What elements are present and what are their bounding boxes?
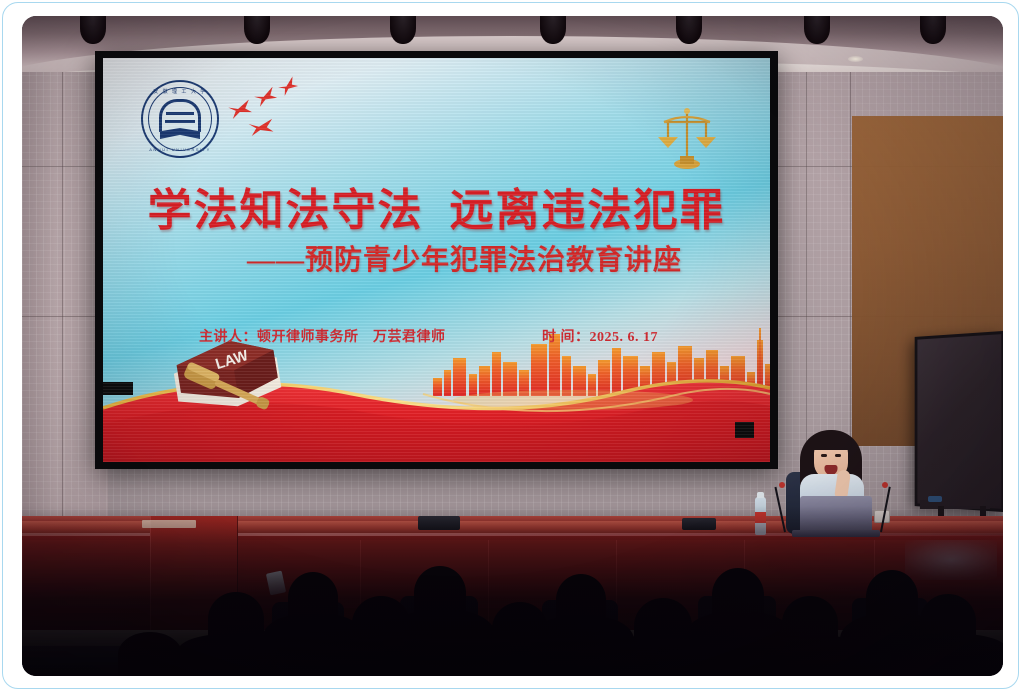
dove-icon <box>253 87 278 108</box>
emblem-arch-shape <box>159 99 201 132</box>
microphone-head-icon <box>779 482 785 488</box>
stage-spotlight-icon <box>80 16 106 44</box>
dove-icon <box>248 119 273 136</box>
led-corner-marker <box>735 422 754 438</box>
stage-spotlight-icon <box>920 16 946 44</box>
stage-spotlight-icon <box>244 16 270 44</box>
law-book-gavel-icon: LAW <box>161 336 287 418</box>
presenter-eye <box>835 454 841 457</box>
stage-spotlight-icon <box>390 16 416 44</box>
slide-time-line: 时 间：2025. 6. 17 <box>542 326 658 346</box>
emblem-top-text: 安 徽 理 工 大 学 <box>143 88 217 95</box>
school-emblem-icon: 安 徽 理 工 大 学 ANHUI UNIVERSITY <box>141 80 219 158</box>
stage-spotlight-icon <box>804 16 830 44</box>
slide-main-title: 学法知法守法 远离违法犯罪 <box>103 174 770 238</box>
slide-sub-title: ——预防青少年犯罪法治教育讲座 <box>103 238 770 278</box>
wall-seam <box>62 72 63 524</box>
emblem-bottom-text: ANHUI UNIVERSITY <box>143 147 217 152</box>
presenter-fringe <box>810 432 852 450</box>
slide-content: 安 徽 理 工 大 学 ANHUI UNIVERSITY <box>103 58 770 462</box>
emblem-bar <box>165 120 195 123</box>
presenter-eye <box>821 454 827 457</box>
dove-icon <box>228 100 253 120</box>
stage-spotlight-icon <box>676 16 702 44</box>
led-corner-marker <box>103 382 133 395</box>
emblem-bar <box>166 112 194 115</box>
stage-spotlight-icon <box>540 16 566 44</box>
scales-of-justice-icon <box>656 104 718 176</box>
microphone-head-icon <box>882 482 888 488</box>
auditorium-photo: 安 徽 理 工 大 学 ANHUI UNIVERSITY <box>22 16 1003 676</box>
slide-meta-row: 主讲人：顿开律师事务所 万芸君律师 时 间：2025. 6. 17 <box>103 326 770 346</box>
ceiling-downlight-icon <box>848 56 863 62</box>
bottle-cap <box>757 492 764 498</box>
tv-device-box <box>928 496 942 502</box>
led-display-screen: 安 徽 理 工 大 学 ANHUI UNIVERSITY <box>95 51 778 469</box>
screenshot-root: 安 徽 理 工 大 学 ANHUI UNIVERSITY <box>0 0 1025 695</box>
slide-speaker-line: 主讲人：顿开律师事务所 万芸君律师 <box>199 326 446 346</box>
dove-icon <box>277 76 299 96</box>
seated-audience <box>22 506 1003 676</box>
audience-darkness-overlay <box>22 506 1003 676</box>
secondary-tv-display <box>915 331 1003 512</box>
